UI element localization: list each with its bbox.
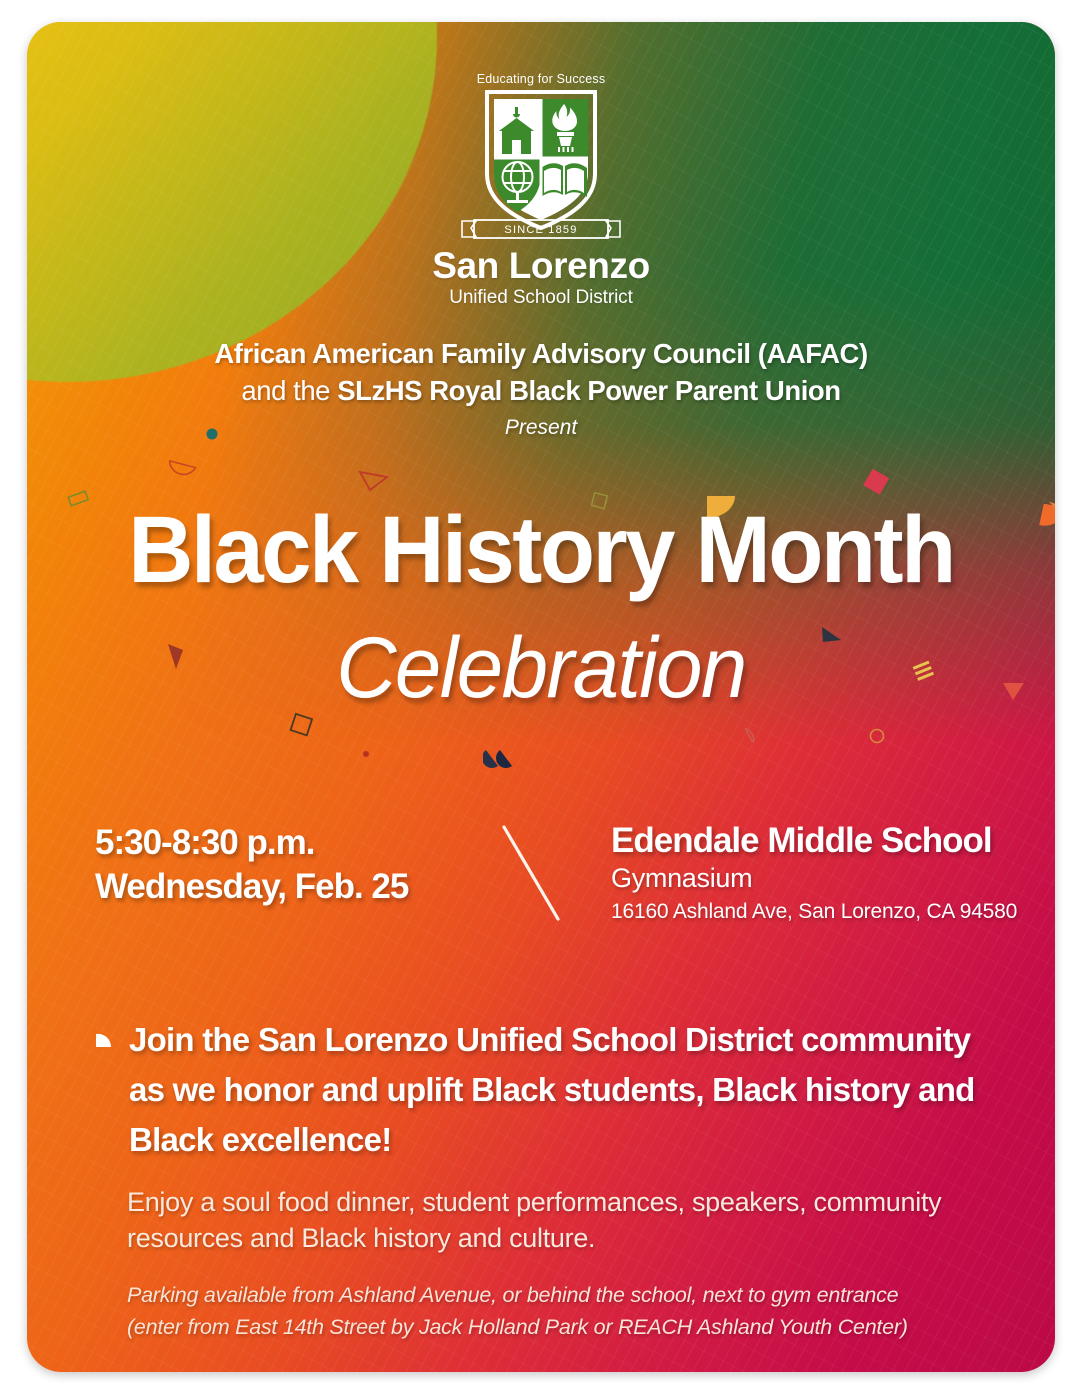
presenter-line-2: and the SLzHS Royal Black Power Parent U… — [27, 375, 1055, 407]
body-paragraph: Enjoy a soul food dinner, student perfor… — [127, 1184, 1027, 1257]
parking-note: Parking available from Ashland Avenue, o… — [127, 1280, 1027, 1344]
district-logo: Educating for Success — [27, 72, 1055, 309]
quarter-circle-bullet-icon — [95, 1031, 112, 1048]
event-where-block: Edendale Middle School Gymnasium 16160 A… — [611, 822, 1017, 923]
presenter-line-2-prefix: and the — [241, 375, 337, 406]
poster-content: Educating for Success — [27, 22, 1055, 1372]
presenter-present-word: Present — [27, 416, 1055, 440]
venue-address: 16160 Ashland Ave, San Lorenzo, CA 94580 — [611, 900, 1017, 923]
logo-tagline: Educating for Success — [477, 72, 606, 86]
event-when-block: 5:30-8:30 p.m. Wednesday, Feb. 25 — [95, 821, 408, 909]
logo-district-subtitle: Unified School District — [449, 287, 633, 309]
lead-paragraph-block: Join the San Lorenzo Unified School Dist… — [95, 1015, 995, 1165]
poster-canvas: Educating for Success — [27, 22, 1055, 1372]
event-time: 5:30-8:30 p.m. — [95, 821, 408, 865]
event-date: Wednesday, Feb. 25 — [95, 865, 408, 909]
logo-district-name: San Lorenzo — [432, 247, 650, 286]
parking-note-line-1: Parking available from Ashland Avenue, o… — [127, 1280, 1027, 1312]
since-ribbon-banner: SINCE 1859 — [456, 217, 626, 243]
venue-name: Edendale Middle School — [611, 822, 1017, 861]
shield-crest-icon — [471, 88, 611, 233]
venue-room: Gymnasium — [611, 864, 1017, 894]
presenter-line-2-bold: SLzHS Royal Black Power Parent Union — [337, 375, 840, 406]
poster-title-main: Black History Month — [53, 503, 1030, 598]
poster-title-sub: Celebration — [42, 625, 1039, 711]
diagonal-divider — [501, 824, 561, 922]
since-ribbon-text: SINCE 1859 — [504, 224, 577, 236]
presenter-line-1: African American Family Advisory Council… — [27, 338, 1055, 370]
presenters-block: African American Family Advisory Council… — [27, 338, 1055, 440]
parking-note-line-2: (enter from East 14th Street by Jack Hol… — [127, 1312, 1027, 1344]
lead-paragraph: Join the San Lorenzo Unified School Dist… — [129, 1015, 995, 1165]
